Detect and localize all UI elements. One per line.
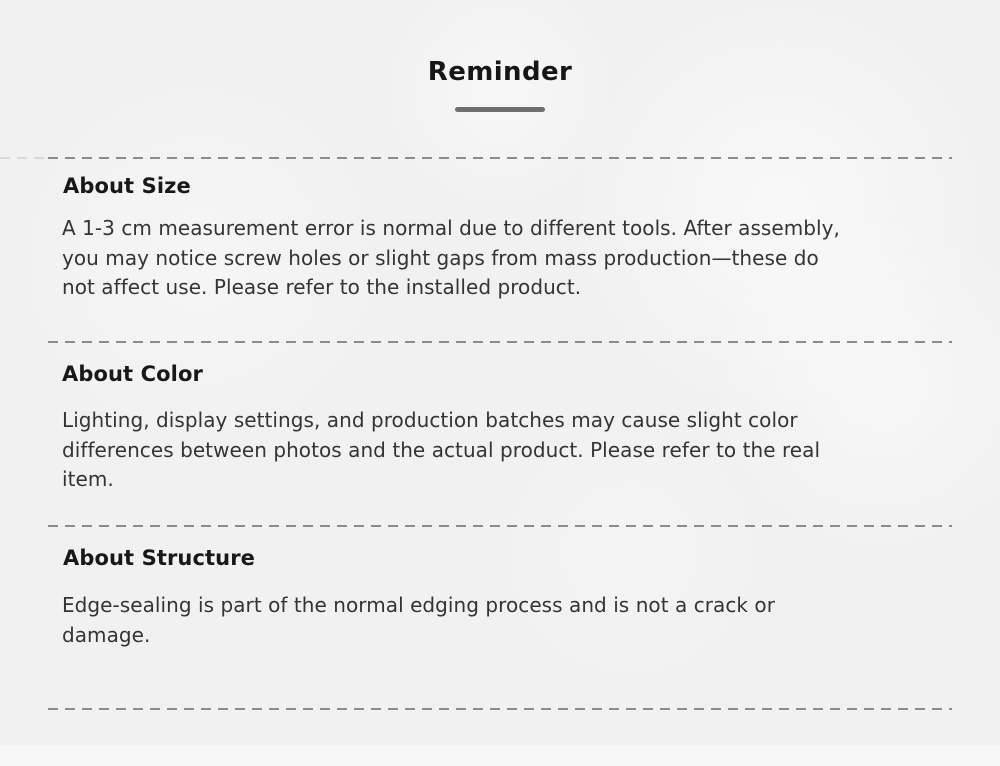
bottom-band (0, 745, 1000, 766)
section-body-about-color: Lighting, display settings, and producti… (62, 406, 952, 495)
reminder-page: Reminder About Size A 1-3 cm measurement… (0, 0, 1000, 766)
section-about-structure: About Structure Edge-sealing is part of … (0, 544, 1000, 650)
divider-after-color (48, 525, 952, 527)
section-body-about-size: A 1-3 cm measurement error is normal due… (62, 214, 952, 303)
page-title: Reminder (0, 56, 1000, 88)
section-about-size: About Size A 1-3 cm measurement error is… (0, 172, 1000, 303)
section-body-about-structure: Edge-sealing is part of the normal edgin… (62, 591, 952, 650)
divider-after-size (48, 341, 952, 343)
title-underline-rule (455, 107, 545, 112)
section-heading-about-color: About Color (62, 360, 1000, 388)
divider-bottom (48, 708, 952, 710)
section-heading-about-size: About Size (63, 172, 1000, 200)
section-about-color: About Color Lighting, display settings, … (0, 360, 1000, 495)
divider-top (48, 157, 952, 159)
section-heading-about-structure: About Structure (63, 544, 1000, 572)
page-header: Reminder (0, 56, 1000, 112)
